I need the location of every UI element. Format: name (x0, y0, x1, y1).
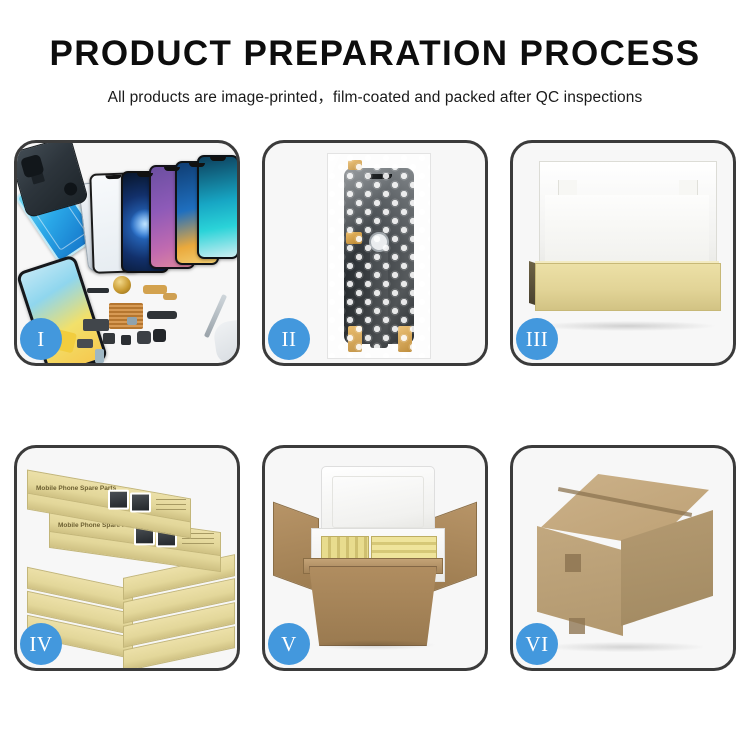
sensor-part (127, 317, 137, 325)
camera-module-part (153, 329, 166, 342)
drop-shadow (547, 642, 703, 652)
carton-body (309, 566, 437, 646)
notch-icon (164, 167, 180, 171)
step-badge-5: V (268, 623, 310, 665)
chip-part (103, 333, 115, 344)
box-spec-lines (156, 499, 186, 514)
step-badge-3: III (516, 318, 558, 360)
notch-icon (105, 175, 121, 180)
process-step-1: I (14, 140, 240, 366)
box-window-image (108, 490, 129, 510)
chip-part (121, 335, 131, 345)
module-part (137, 331, 151, 344)
step-badge-1: I (20, 318, 62, 360)
page-title: PRODUCT PREPARATION PROCESS (0, 36, 750, 71)
gold-connector-part (163, 293, 177, 300)
notch-icon (210, 157, 226, 161)
step-badge-2: II (268, 318, 310, 360)
hand (212, 319, 237, 363)
flex-cable-part (83, 319, 109, 331)
box-liner (545, 195, 709, 271)
sensor-part (95, 349, 104, 363)
process-step-6: VI (510, 445, 736, 671)
notch-icon (189, 163, 205, 167)
box-label-text: Mobile Phone Spare Parts (36, 485, 116, 492)
flex-cable-part (147, 311, 177, 319)
page-header: PRODUCT PREPARATION PROCESS All products… (0, 0, 750, 107)
plastic-sheen (328, 154, 430, 358)
phone-screen-teal (197, 155, 237, 259)
speaker-coil-part (113, 276, 131, 294)
notch-icon (137, 173, 153, 177)
step-badge-4: IV (20, 623, 62, 665)
page-subtitle: All products are image-printed，film-coat… (0, 85, 750, 107)
carton-tab (565, 554, 581, 572)
process-step-3: III (510, 140, 736, 366)
earpiece-part (87, 288, 109, 293)
box-window-image (130, 493, 151, 513)
step-badge-6: VI (516, 623, 558, 665)
bubble-wrap-package (327, 153, 431, 359)
process-step-4: Mobile Phone Spare Parts Mobile Phone Sp… (14, 445, 240, 671)
chip-part (77, 339, 93, 348)
copper-mesh-part (109, 303, 143, 329)
process-grid: I II (14, 140, 736, 671)
drop-shadow (315, 640, 435, 650)
mailer-box-front (535, 263, 721, 311)
carton-tab (569, 618, 585, 634)
drop-shadow (539, 321, 715, 331)
process-step-2: II (262, 140, 488, 366)
process-step-5: V (262, 445, 488, 671)
